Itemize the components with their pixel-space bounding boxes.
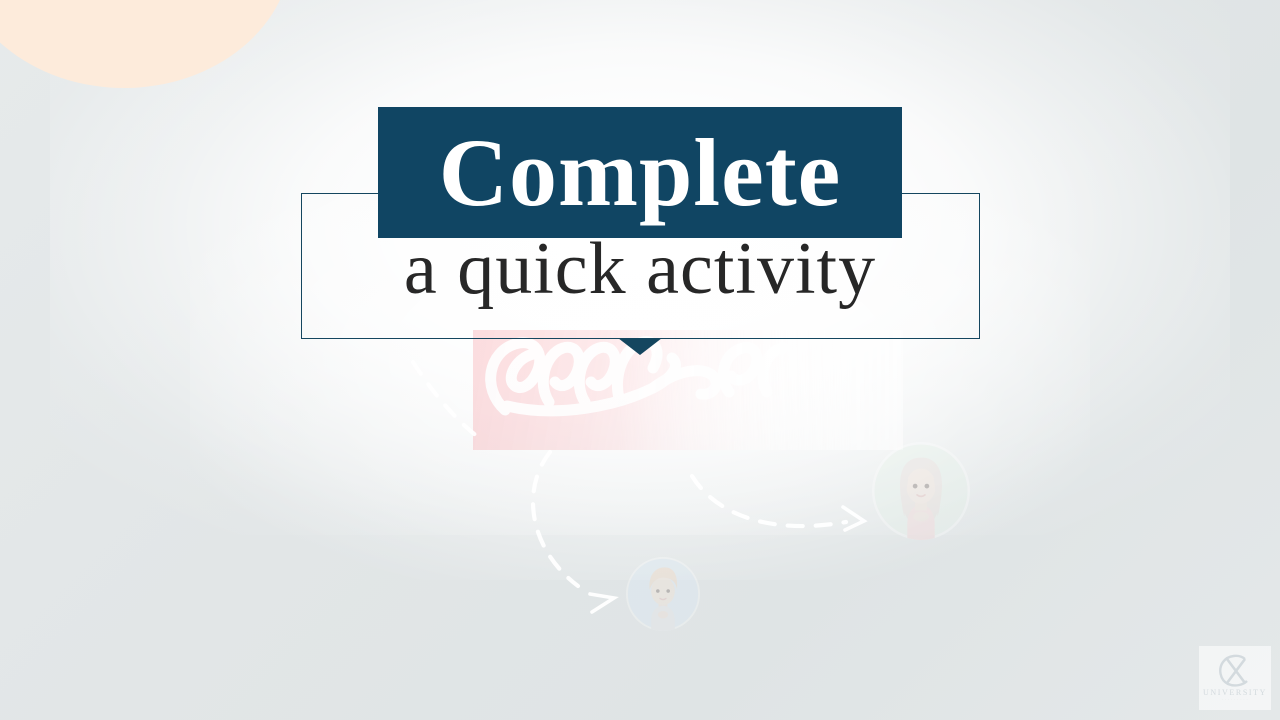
subtitle-text: a quick activity: [0, 232, 1280, 306]
university-logo: UNIVERSITY · · · · · · · · ·: [1199, 646, 1271, 710]
arrow-head-male: [590, 594, 614, 612]
slide-canvas: a quick activity Complete T Typography /…: [0, 0, 1280, 720]
university-subline: · · · · · · · · ·: [1222, 699, 1248, 702]
female-avatar: [872, 442, 970, 540]
frame-caret-icon: [618, 338, 662, 355]
arrow-to-female-avatar: [692, 476, 846, 526]
arrow-to-male-avatar: [533, 452, 578, 586]
university-wordmark: UNIVERSITY: [1203, 689, 1267, 697]
university-monogram-icon: [1215, 653, 1255, 687]
male-avatar-icon: [626, 557, 700, 631]
male-avatar: [626, 557, 700, 631]
arrow-head-female: [843, 507, 864, 530]
page-title: Complete: [378, 107, 902, 238]
arrow-tail-upper-left: [413, 362, 482, 440]
female-avatar-icon: [872, 442, 970, 540]
